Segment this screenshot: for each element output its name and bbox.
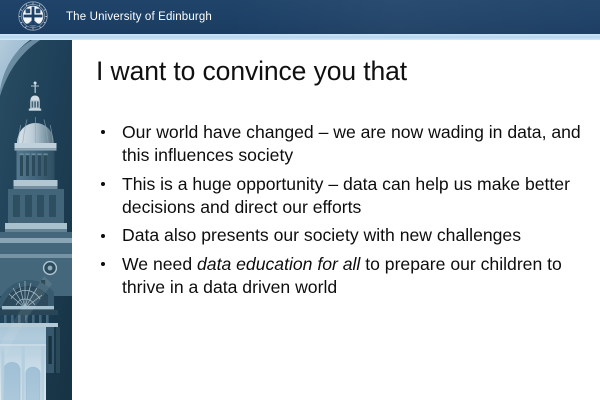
university-crest-icon xyxy=(15,1,51,33)
list-item: Data also presents our society with new … xyxy=(96,224,586,247)
bullet-list: Our world have changed – we are now wadi… xyxy=(96,121,586,299)
list-item-text: This is a huge opportunity – data can he… xyxy=(122,174,570,217)
page-title: I want to convince you that xyxy=(92,44,590,87)
bullet-marker-icon xyxy=(101,234,105,238)
university-name-label: The University of Edinburgh xyxy=(66,0,212,34)
old-college-dome-photo xyxy=(0,40,72,400)
list-item-emphasis: data education for all xyxy=(197,254,360,274)
list-item: This is a huge opportunity – data can he… xyxy=(96,173,586,219)
slide-content: I want to convince you that Our world ha… xyxy=(92,44,590,396)
list-item-text: Our world have changed – we are now wadi… xyxy=(122,122,581,165)
header-accent-rule xyxy=(0,34,600,40)
list-item-text-prefix: We need xyxy=(122,254,197,274)
bullet-marker-icon xyxy=(101,262,105,266)
list-item-text: Data also presents our society with new … xyxy=(122,225,521,245)
presentation-slide: The University of Edinburgh xyxy=(0,0,600,400)
list-item: We need data education for all to prepar… xyxy=(96,253,586,299)
bullet-marker-icon xyxy=(101,130,105,134)
list-item: Our world have changed – we are now wadi… xyxy=(96,121,586,167)
bullet-marker-icon xyxy=(101,182,105,186)
